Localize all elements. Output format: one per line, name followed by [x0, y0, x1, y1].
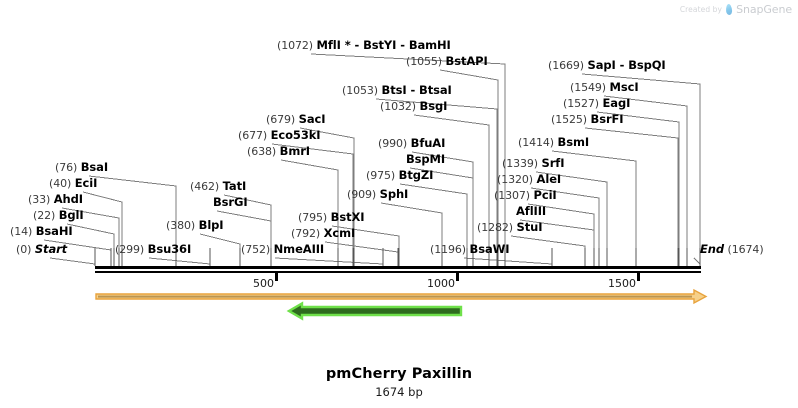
- site-position: (975): [366, 169, 395, 182]
- restriction-site-label-ahdi[interactable]: (33) AhdI: [28, 193, 83, 206]
- site-position: (1527): [563, 97, 599, 110]
- restriction-site-label-afliii[interactable]: AflIII: [516, 205, 546, 218]
- enzyme-name: BtgZI: [399, 168, 434, 182]
- enzyme-name: MscI: [610, 80, 639, 94]
- enzyme-name: BsaI: [81, 160, 108, 174]
- feature-orange-arrow: [96, 290, 706, 303]
- restriction-site-label-bgli[interactable]: (22) BglI: [33, 209, 84, 222]
- leader-line-bgli: [67, 224, 114, 266]
- restriction-site-label-bfuai[interactable]: (990) BfuAI: [378, 137, 445, 150]
- restriction-site-label-ecii[interactable]: (40) EciI: [49, 177, 97, 190]
- restriction-site-label-bspmi[interactable]: BspMI: [406, 153, 445, 166]
- restriction-site-label-bsahi[interactable]: (14) BsaHI: [10, 225, 73, 238]
- enzyme-name: BsrFI: [591, 112, 624, 126]
- enzyme-name: XcmI: [324, 226, 356, 240]
- site-position: (1669): [548, 59, 584, 72]
- leader-line-blpi: [200, 234, 240, 266]
- enzyme-name: BsaWI: [470, 242, 510, 256]
- site-position: (990): [378, 137, 407, 150]
- restriction-site-label-bsrgi[interactable]: BsrGI: [213, 196, 248, 209]
- site-position: (1053): [342, 84, 378, 97]
- restriction-site-label-bsai[interactable]: (76) BsaI: [55, 161, 108, 174]
- enzyme-name: MflI *: [317, 38, 351, 52]
- site-position: (1196): [430, 243, 466, 256]
- restriction-site-label-mfli[interactable]: (1072) MflI * - BstYI - BamHI: [277, 39, 451, 52]
- site-position: (677): [238, 129, 267, 142]
- feature-green-arrow: [289, 304, 461, 319]
- restriction-site-label-bsmi[interactable]: (1414) BsmI: [518, 136, 589, 149]
- enzyme-name: SacI: [299, 112, 326, 126]
- restriction-site-label-nmeaiii[interactable]: (752) NmeAIII: [241, 243, 324, 256]
- enzyme-name: BspMI: [406, 152, 445, 166]
- enzyme-name: BstXI: [331, 210, 365, 224]
- enzyme-separator: -: [407, 83, 419, 97]
- site-position: (40): [49, 177, 71, 190]
- site-position: (0): [16, 243, 31, 256]
- leader-line-end: [694, 258, 700, 266]
- restriction-site-label-bsu36i[interactable]: (299) Bsu36I: [115, 243, 191, 256]
- enzyme-name: NmeAIII: [274, 242, 324, 256]
- site-position: (380): [166, 219, 195, 232]
- plasmid-name: pmCherry Paxillin: [0, 366, 798, 382]
- plasmid-linear-map: [0, 0, 798, 408]
- enzyme-name: BsgI: [420, 99, 448, 113]
- enzyme-name: BstYI: [363, 38, 396, 52]
- dna-backbone: [95, 266, 701, 273]
- enzyme-name: SapI: [588, 58, 616, 72]
- restriction-site-label-stui[interactable]: (1282) StuI: [477, 221, 542, 234]
- restriction-site-label-sapi[interactable]: (1669) SapI - BspQI: [548, 59, 666, 72]
- enzyme-name: End: [700, 242, 724, 256]
- enzyme-separator: -: [351, 38, 363, 52]
- restriction-site-label-pcii[interactable]: (1307) PciI: [494, 189, 557, 202]
- restriction-site-label-bsgi[interactable]: (1032) BsgI: [380, 100, 447, 113]
- restriction-site-label-bsawi[interactable]: (1196) BsaWI: [430, 243, 509, 256]
- enzyme-name: AleI: [537, 172, 562, 186]
- site-position: (1339): [502, 157, 538, 170]
- enzyme-name: Start: [35, 242, 67, 256]
- leader-line-nmeaiii: [275, 258, 383, 266]
- restriction-site-label-alei[interactable]: (1320) AleI: [497, 173, 561, 186]
- enzyme-name: BtsaI: [419, 83, 452, 97]
- leader-line-srfi: [536, 172, 607, 266]
- ruler-tick-500: [275, 273, 278, 281]
- enzyme-separator: -: [396, 38, 408, 52]
- site-position: (792): [291, 227, 320, 240]
- site-position: (22): [33, 209, 55, 222]
- map-title-block: pmCherry Paxillin 1674 bp: [0, 366, 798, 399]
- restriction-site-label-end[interactable]: End (1674): [700, 243, 764, 256]
- leader-line-bsawi: [464, 258, 552, 266]
- enzyme-name: SrfI: [542, 156, 565, 170]
- restriction-site-label-saci[interactable]: (679) SacI: [266, 113, 325, 126]
- site-position: (76): [55, 161, 77, 174]
- site-position: (1320): [497, 173, 533, 186]
- ruler-tick-marks: [275, 273, 640, 281]
- enzyme-name: PciI: [534, 188, 557, 202]
- site-position: (638): [247, 145, 276, 158]
- ruler-label-500: 500: [253, 277, 274, 290]
- restriction-site-label-start[interactable]: (0) Start: [16, 243, 67, 256]
- enzyme-name: AhdI: [54, 192, 83, 206]
- restriction-site-label-xcmi[interactable]: (792) XcmI: [291, 227, 355, 240]
- restriction-site-label-bstapi[interactable]: (1055) BstAPI: [406, 55, 488, 68]
- restriction-site-label-msci[interactable]: (1549) MscI: [570, 81, 639, 94]
- enzyme-name: SphI: [380, 187, 409, 201]
- enzyme-separator: -: [616, 58, 628, 72]
- enzyme-name: BamHI: [409, 38, 451, 52]
- site-position: (1282): [477, 221, 513, 234]
- restriction-site-label-btgzi[interactable]: (975) BtgZI: [366, 169, 433, 182]
- site-position: (909): [347, 188, 376, 201]
- plasmid-length: 1674 bp: [0, 385, 798, 399]
- leader-line-bsu36i: [149, 258, 210, 266]
- site-position: (1032): [380, 100, 416, 113]
- site-position: (1674): [728, 243, 764, 256]
- leader-line-eagi: [597, 112, 679, 266]
- restriction-site-label-blpi[interactable]: (380) BlpI: [166, 219, 223, 232]
- leader-line-bsrgi: [217, 211, 271, 266]
- enzyme-name: TatI: [223, 179, 247, 193]
- site-position: (795): [298, 211, 327, 224]
- restriction-site-label-bmri[interactable]: (638) BmrI: [247, 145, 310, 158]
- ruler-tick-1000: [456, 273, 459, 281]
- enzyme-name: BglI: [59, 208, 84, 222]
- site-position: (679): [266, 113, 295, 126]
- enzyme-name: BsaHI: [36, 224, 73, 238]
- site-position: (33): [28, 193, 50, 206]
- enzyme-name: Bsu36I: [148, 242, 191, 256]
- site-position: (1525): [551, 113, 587, 126]
- site-position: (752): [241, 243, 270, 256]
- enzyme-name: BlpI: [199, 218, 224, 232]
- site-position: (1307): [494, 189, 530, 202]
- site-position: (1549): [570, 81, 606, 94]
- restriction-site-label-tati[interactable]: (462) TatI: [190, 180, 246, 193]
- enzyme-name: BspQI: [628, 58, 665, 72]
- restriction-site-label-bsrfi[interactable]: (1525) BsrFI: [551, 113, 623, 126]
- enzyme-name: BstAPI: [446, 54, 488, 68]
- enzyme-name: Eco53kI: [271, 128, 321, 142]
- restriction-site-label-eco53ki[interactable]: (677) Eco53kI: [238, 129, 320, 142]
- site-position: (299): [115, 243, 144, 256]
- restriction-site-label-srfi[interactable]: (1339) SrfI: [502, 157, 564, 170]
- enzyme-name: BsmI: [558, 135, 589, 149]
- site-position: (1414): [518, 136, 554, 149]
- ruler-label-1500: 1500: [608, 277, 636, 290]
- enzyme-name: EciI: [75, 176, 98, 190]
- enzyme-name: AflIII: [516, 204, 546, 218]
- enzyme-name: BtsI: [382, 83, 407, 97]
- enzyme-name: BmrI: [280, 144, 310, 158]
- site-position: (462): [190, 180, 219, 193]
- enzyme-name: StuI: [517, 220, 543, 234]
- restriction-site-label-eagi[interactable]: (1527) EagI: [563, 97, 630, 110]
- site-position: (1072): [277, 39, 313, 52]
- enzyme-name: EagI: [603, 96, 631, 110]
- ruler-label-1000: 1000: [427, 277, 455, 290]
- site-position: (14): [10, 225, 32, 238]
- restriction-site-label-bstxi[interactable]: (795) BstXI: [298, 211, 364, 224]
- enzyme-name: BfuAI: [411, 136, 446, 150]
- leader-line-start: [50, 258, 95, 266]
- restriction-site-label-sphi[interactable]: (909) SphI: [347, 188, 408, 201]
- restriction-site-label-btsi[interactable]: (1053) BtsI - BtsaI: [342, 84, 452, 97]
- ruler-tick-1500: [637, 273, 640, 281]
- enzyme-name: BsrGI: [213, 195, 248, 209]
- site-position: (1055): [406, 55, 442, 68]
